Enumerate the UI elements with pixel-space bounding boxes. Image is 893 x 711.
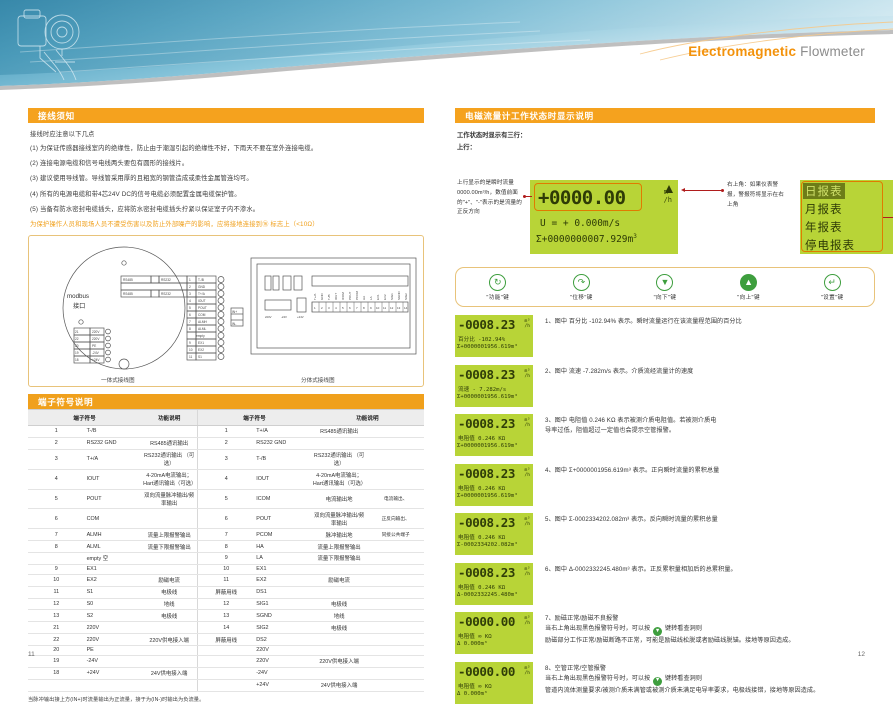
cell-sym-right: +24V xyxy=(254,679,311,691)
note-item-1: (1) 为保证传感器接线室内的绝缘性，防止由于潮湿引起的绝缘性不好，下雨天不要在… xyxy=(30,144,422,154)
item-line: 励磁部分工作正常/励磁断路不正常，可能是励磁线松脱或者励磁线脱锚。接地等原因造成… xyxy=(545,636,795,646)
lcd-thumbnail: -0008.23m³/h电阻值 0.246 KΩΣ+0000001956.619… xyxy=(455,414,533,456)
svg-text:14: 14 xyxy=(404,306,408,310)
item-description: 7、励磁正常/励磁不良报警当右上角出现黑色报警符号时，可以按 ▼ 键转看查洞则励… xyxy=(545,612,795,646)
svg-text:T-/B: T-/B xyxy=(198,278,204,282)
thumb-line2: 电阻值 0.246 KΩ xyxy=(458,583,505,591)
item-line: 当右上角出现黑色报警符号时，可以按 ▼ 键转看查洞则 xyxy=(545,624,795,636)
thumb-flow-value: -0008.23 xyxy=(458,466,515,481)
thumb-line2: 电阻值 0.246 KΩ xyxy=(458,434,505,442)
table-row: 10EX2励磁电流11EX2励磁电流 xyxy=(28,574,424,586)
svg-text:T+/A: T+/A xyxy=(313,294,317,300)
cell-fn-right: 脉冲输出地 xyxy=(311,529,368,541)
note-item-5: (5) 当备有防水密封电缆插头，应将防水密封电缆插头拧紧以保证室子内不渗水。 xyxy=(30,205,422,215)
cell-no-left: 20 xyxy=(28,646,85,656)
cell-sym-right: 220V xyxy=(254,655,311,667)
svg-text:4: 4 xyxy=(335,306,337,310)
table-row: 21220V14SIG2电极线 xyxy=(28,622,424,634)
thumb-line2: 电阻值 ∞ KΩ xyxy=(458,632,492,640)
svg-text:8: 8 xyxy=(363,306,365,310)
list-item: -0008.23m³/h电阻值 0.246 KΩΔ-0002332245.480… xyxy=(455,563,875,605)
cell-extra: 同接公共端子 xyxy=(367,529,424,541)
cell-no-left: 11 xyxy=(28,586,85,598)
svg-text:1: 1 xyxy=(189,278,191,282)
cell-fn-right xyxy=(311,586,368,598)
cell-no-left: 7 xyxy=(28,529,85,541)
thumb-line2: 电阻值 0.246 KΩ xyxy=(458,533,505,541)
table-header-row: 端子符号 功能说明 端子符号 功能说明 xyxy=(28,410,424,426)
thumb-flow-value: -0008.23 xyxy=(458,416,515,431)
thumb-flow-value: -0008.23 xyxy=(458,515,515,530)
table-row: +24V24V供电接入端 xyxy=(28,679,424,691)
cell-fn-right: 电极线 xyxy=(311,598,368,610)
cell-fn-right: 电流输出地 xyxy=(311,489,368,509)
menu-highlight-box xyxy=(801,181,883,252)
lcd-thumbnail: -0000.00m³/h电阻值 ∞ KΩΔ 0.000m³ xyxy=(455,612,533,654)
thumb-line3: Σ+0000001956.619m³ xyxy=(457,344,518,350)
cell-extra xyxy=(367,541,424,553)
svg-text:6: 6 xyxy=(189,313,191,317)
section-title-display: 电磁流量计工作状态时显示说明 xyxy=(465,110,594,122)
alarm-symbol-icon xyxy=(663,184,675,196)
cell-sym-left: ALML xyxy=(85,541,142,553)
svg-text:+24V: +24V xyxy=(297,315,304,319)
cell-sym-left: IOUT xyxy=(85,469,142,489)
lcd-thumbnail: -0008.23m³/h百分比 -102.94%Σ+0000001956.619… xyxy=(455,315,533,357)
wiring-notes: 接线时应注意以下几点 (1) 为保证传感器接线室内的绝缘性，防止由于潮湿引起的绝… xyxy=(28,123,424,230)
thumb-line3: Δ-0002332245.480m³ xyxy=(457,592,518,598)
table-row: 11S1电极线屏蔽用线DS1 xyxy=(28,586,424,598)
cell-sym-right: RS232 GND xyxy=(254,437,311,449)
svg-text:20: 20 xyxy=(75,344,79,348)
cell-fn-left: 24V供电接入端 xyxy=(141,667,198,679)
table-row: 9EX110EX1 xyxy=(28,564,424,574)
cell-fn-right: RS485通讯输出 xyxy=(311,426,368,438)
down-key-icon: ▼ xyxy=(656,274,673,291)
callout-line-left xyxy=(523,196,532,197)
item-line: 管道内流体测量要求/被测介质未满管或被测介质未满足电导率要求，电极线接错，接地等… xyxy=(545,686,819,696)
cell-fn-left: 电极线 xyxy=(141,610,198,622)
cell-no-right: 4 xyxy=(198,469,255,489)
display-sub: 上行： xyxy=(457,142,875,151)
cell-extra xyxy=(367,449,424,469)
svg-text:2: 2 xyxy=(189,285,191,289)
key-down[interactable]: ▼ "向下"键 xyxy=(628,274,702,301)
cell-fn-left: 流量下限报警输出 xyxy=(141,541,198,553)
item-line: 6、图中 Δ-0002332245.480m³ 表示。正反累积量相加后的总累积量… xyxy=(545,565,737,575)
callout-line-menu xyxy=(883,217,893,218)
cell-sym-right: 220V xyxy=(254,646,311,656)
key-legend-strip: ↻ "功能"键 ↷ "位移"键 ▼ "向下"键 ▲ "向上"键 ↵ "设置"键 xyxy=(455,267,875,307)
svg-text:220V: 220V xyxy=(265,315,272,319)
svg-text:IN-: IN- xyxy=(232,322,236,326)
thumb-line2: 流速 - 7.282m/s xyxy=(458,385,506,393)
cell-sym-left: ALMH xyxy=(85,529,142,541)
display-lead: 工作状态时显示有三行： xyxy=(457,130,875,139)
key-function[interactable]: ↻ "功能"键 xyxy=(461,274,535,301)
svg-text:19: 19 xyxy=(75,351,79,355)
cell-no-right xyxy=(198,655,255,667)
caption-split-wiring: 分体式接线图 xyxy=(301,376,335,384)
svg-text:13: 13 xyxy=(397,306,401,310)
cell-extra xyxy=(367,622,424,634)
thumb-unit: m³/h xyxy=(524,567,530,577)
svg-text:3: 3 xyxy=(328,306,330,310)
svg-text:SIG2: SIG2 xyxy=(404,293,408,300)
cell-sym-right: POUT xyxy=(254,509,311,529)
svg-text:empty: empty xyxy=(196,334,205,338)
cell-extra xyxy=(367,437,424,449)
svg-text:EX2: EX2 xyxy=(383,294,387,300)
cell-fn-left: RS232通讯输出 （可选） xyxy=(141,449,198,469)
lcd-thumbnail: -0008.23m³/h流速 - 7.282m/sΣ+0000001956.61… xyxy=(455,365,533,407)
cell-sym-left: S0 xyxy=(85,598,142,610)
svg-text:ICOM: ICOM xyxy=(341,292,345,300)
svg-text:PCOM: PCOM xyxy=(355,291,359,301)
lcd-totalizer-sup: 3 xyxy=(633,233,637,240)
down-key-icon[interactable]: ▼ xyxy=(653,677,662,686)
svg-text:RS232: RS232 xyxy=(161,292,171,296)
section-header-display: 电磁流量计工作状态时显示说明 xyxy=(455,108,875,123)
cell-no-right: 11 xyxy=(198,574,255,586)
cell-sym-right: ICOM xyxy=(254,489,311,509)
cell-fn-right xyxy=(311,634,368,646)
thumb-flow-value: -0008.23 xyxy=(458,317,515,332)
svg-text:SGND: SGND xyxy=(397,291,401,301)
key-function-label: "功能"键 xyxy=(461,293,535,301)
svg-text:IN+: IN+ xyxy=(232,310,237,314)
cell-no-left: 13 xyxy=(28,610,85,622)
cell-sym-right: SGND xyxy=(254,610,311,622)
lcd-velocity-line: U = + 0.000m/s xyxy=(540,218,620,229)
note-alarm-corner: 右上角：如果仪表警报，警报符将显示在右上角 xyxy=(727,181,789,210)
shift-key-icon: ↷ xyxy=(573,274,590,291)
svg-text:SIG1: SIG1 xyxy=(390,293,394,300)
diagram-modbus-label: modbus xyxy=(67,293,89,300)
thumb-line3: Σ+0000001956.619m³ xyxy=(457,443,518,449)
cell-no-right: 9 xyxy=(198,553,255,565)
cell-fn-left: 220V供电接入端 xyxy=(141,634,198,646)
lcd-value-highlight-box xyxy=(534,183,642,211)
svg-text:1: 1 xyxy=(314,306,316,310)
svg-text:3: 3 xyxy=(189,292,191,296)
list-item: -0008.23m³/h电阻值 0.246 KΩΣ+0000001956.619… xyxy=(455,414,875,456)
cell-sym-left: 220V xyxy=(85,622,142,634)
terminal-table-body: 1T-/B1T+/ARS485通讯输出2RS232 GNDRS485通讯输出2R… xyxy=(28,426,424,692)
list-item: -0008.23m³/h流速 - 7.282m/sΣ+0000001956.61… xyxy=(455,365,875,407)
cell-sym-right: T-/B xyxy=(254,449,311,469)
cell-fn-left: 励磁电流 xyxy=(141,574,198,586)
cell-no-right: 12 xyxy=(198,598,255,610)
svg-text:T-/B: T-/B xyxy=(327,295,331,301)
cell-no-right: 1 xyxy=(198,426,255,438)
caption-integral-wiring: 一体式接线图 xyxy=(101,376,135,384)
cell-fn-right xyxy=(311,437,368,449)
cell-no-left: 4 xyxy=(28,469,85,489)
svg-text:EX1: EX1 xyxy=(198,341,204,345)
cell-fn-right: RS232通讯输出 （可选） xyxy=(311,449,368,469)
note-item-3: (3) 建议使用导线管。导线管采用厚的且粗宽的钢管造成或柔性金属管连均可。 xyxy=(30,174,422,184)
svg-text:8: 8 xyxy=(189,327,191,331)
item-line: 2、图中 流速 -7.282m/s 表示。介质流经流量计的速度 xyxy=(545,367,693,377)
up-key-icon: ▲ xyxy=(740,274,757,291)
svg-text:-24V: -24V xyxy=(281,315,287,319)
cell-no-left: 10 xyxy=(28,574,85,586)
display-explanation-list: -0008.23m³/h百分比 -102.94%Σ+0000001956.619… xyxy=(455,315,875,704)
cell-no-left: 18 xyxy=(28,667,85,679)
callout-arrow-left xyxy=(681,188,685,192)
cell-fn-right xyxy=(311,646,368,656)
list-item: -0008.23m³/h电阻值 0.246 KΩΣ+0000001956.619… xyxy=(455,464,875,506)
svg-text:IOUT: IOUT xyxy=(334,293,338,300)
svg-text:7: 7 xyxy=(189,320,191,324)
cell-fn-right: 双向流量脉冲输出/频率输出 xyxy=(311,509,368,529)
table-row: 18+24V24V供电接入端-24V xyxy=(28,667,424,679)
cell-fn-left xyxy=(141,655,198,667)
cell-fn-right: 地线 xyxy=(311,610,368,622)
cell-no-left: 5 xyxy=(28,489,85,509)
cell-extra xyxy=(367,655,424,667)
thumb-unit: m³/h xyxy=(524,666,530,676)
svg-text:9: 9 xyxy=(370,306,372,310)
cell-no-left: 8 xyxy=(28,541,85,553)
th-terminal-symbol-left: 端子符号 xyxy=(28,410,141,426)
cell-fn-right xyxy=(311,564,368,574)
svg-text:S1: S1 xyxy=(198,355,202,359)
cell-no-left: 21 xyxy=(28,622,85,634)
svg-text:11: 11 xyxy=(383,306,386,310)
key-setting[interactable]: ↵ "设置"键 xyxy=(795,274,869,301)
item-line: 当右上角出现黑色报警符号时，可以按 ▼ 键转看查洞则 xyxy=(545,674,819,686)
cell-no-left: 12 xyxy=(28,598,85,610)
lcd-menu-display: 日报表 月报表 年报表 停电报表 xyxy=(800,180,893,254)
cell-sym-left: S2 xyxy=(85,610,142,622)
thumb-line2: 百分比 -102.94% xyxy=(458,335,505,343)
table-row: 3T+/ARS232通讯输出 （可选）3T-/BRS232通讯输出 （可选） xyxy=(28,449,424,469)
lcd-thumbnail: -0008.23m³/h电阻值 0.246 KΩΣ-0002334202.082… xyxy=(455,513,533,555)
cell-fn-right: 24V供电接入端 xyxy=(311,679,368,691)
th-function-left: 功能说明 xyxy=(141,410,198,426)
svg-text:LA: LA xyxy=(369,297,373,301)
svg-text:4: 4 xyxy=(189,299,191,303)
cell-extra xyxy=(367,646,424,656)
cell-sym-left: EX1 xyxy=(85,564,142,574)
th-terminal-symbol-right: 端子符号 xyxy=(198,410,311,426)
cell-extra xyxy=(367,634,424,646)
cell-extra xyxy=(367,610,424,622)
key-setting-label: "设置"键 xyxy=(795,293,869,301)
cell-no-left: 6 xyxy=(28,509,85,529)
table-row: 5POUT双向流量脉冲输出/频率输出5ICOM电流输出地电流输出、 xyxy=(28,489,424,509)
table-row: 12S0地线12SIG1电极线 xyxy=(28,598,424,610)
cell-fn-right: 4-20mA电流输出；Hart通讯输出（可选） xyxy=(311,469,368,489)
svg-text:接口: 接口 xyxy=(73,302,85,310)
cell-sym-left: T+/A xyxy=(85,449,142,469)
cell-fn-left xyxy=(141,426,198,438)
cell-extra xyxy=(367,553,424,565)
section-header-terminal: 端子符号说明 xyxy=(28,394,424,409)
section-header-wiring: 接线须知 xyxy=(28,108,424,123)
cell-no-right: 屏蔽用线 xyxy=(198,586,255,598)
cell-sym-right: SIG2 xyxy=(254,622,311,634)
cell-no-left: 19 xyxy=(28,655,85,667)
cell-no-right: 8 xyxy=(198,541,255,553)
cell-no-left: 1 xyxy=(28,426,85,438)
note-item-2: (2) 连接电源电缆和信号电线两头要包有圆形的接线片。 xyxy=(30,159,422,169)
cell-sym-left xyxy=(85,679,142,691)
item-description: 5、图中 Σ-0002334202.082m³ 表示。反向瞬时流量的累积总量 xyxy=(545,513,718,525)
item-line: 7、励磁正常/励磁不良报警 xyxy=(545,614,795,624)
integral-wiring-diagram xyxy=(63,247,243,369)
svg-text:220V: 220V xyxy=(92,337,100,341)
cell-extra xyxy=(367,574,424,586)
svg-text:T+/A: T+/A xyxy=(198,292,206,296)
table-row: 13S2电极线13SGND地线 xyxy=(28,610,424,622)
cell-sym-left: PE xyxy=(85,646,142,656)
cell-no-left: 3 xyxy=(28,449,85,469)
table-row: 8ALML流量下限报警输出8HA流量上限报警输出 xyxy=(28,541,424,553)
thumb-line2: 电阻值 ∞ KΩ xyxy=(458,682,492,690)
section-title-terminal: 端子符号说明 xyxy=(38,396,93,408)
svg-text:EX1: EX1 xyxy=(376,294,380,300)
svg-text:RS485: RS485 xyxy=(123,292,133,296)
thumb-line3: Δ 0.000m³ xyxy=(457,641,487,647)
thumb-line3: Σ+0000001956.619m³ xyxy=(457,493,518,499)
item-line: 1、图中 百分比 -102.94% 表示。瞬时流量运行在该流量程范围的百分比 xyxy=(545,317,742,327)
cell-no-right: 3 xyxy=(198,449,255,469)
svg-text:5: 5 xyxy=(189,306,191,310)
item-line: 5、图中 Σ-0002334202.082m³ 表示。反向瞬时流量的累积总量 xyxy=(545,515,718,525)
thumb-unit: m³/h xyxy=(524,616,530,626)
cell-sym-left: 220V xyxy=(85,634,142,646)
th-function-right: 功能说明 xyxy=(311,410,424,426)
table-row: 1T-/B1T+/ARS485通讯输出 xyxy=(28,426,424,438)
section-title-wiring: 接线须知 xyxy=(38,110,75,122)
note-upper-row-description: 上行显示的是瞬时流量0000.00m³/h，数值前面的"+"、"-"表示的是流量… xyxy=(457,179,525,218)
svg-text:2: 2 xyxy=(321,306,323,310)
cell-no-right: 5 xyxy=(198,489,255,509)
cell-no-left xyxy=(28,553,85,565)
svg-text:22: 22 xyxy=(75,337,79,341)
key-shift[interactable]: ↷ "位移"键 xyxy=(544,274,618,301)
notes-lead: 接线时应注意以下几点 xyxy=(30,130,422,140)
item-description: 3、图中 电阻值 0.246 KΩ 表示被测介质电阻值。若被测介质电 导率过低，… xyxy=(545,414,717,437)
svg-text:GND: GND xyxy=(198,285,206,289)
thumb-line3: Δ 0.000m³ xyxy=(457,691,487,697)
table-row: 19-24V220V220V供电接入端 xyxy=(28,655,424,667)
cell-fn-left: 流量上限报警输出 xyxy=(141,529,198,541)
cell-fn-left: 地线 xyxy=(141,598,198,610)
cell-sym-left: T-/B xyxy=(85,426,142,438)
table-footnote: 当脉冲输出接上方(IN+)时流量输出为正流量，接于为(IN-)时输出为负流量。 xyxy=(28,696,424,703)
svg-text:HA: HA xyxy=(362,296,366,300)
svg-text:-24V: -24V xyxy=(92,351,100,355)
setting-key-icon: ↵ xyxy=(824,274,841,291)
cell-sym-left: empty 空 xyxy=(85,553,142,565)
cell-no-left: 9 xyxy=(28,564,85,574)
cell-sym-right: HA xyxy=(254,541,311,553)
svg-text:PE: PE xyxy=(92,344,96,348)
lcd-unit-bottom: /h xyxy=(664,196,672,204)
cell-fn-right: 电极线 xyxy=(311,622,368,634)
page-number-right: 12 xyxy=(858,651,865,658)
svg-text:POUT: POUT xyxy=(348,292,352,301)
thumb-unit: m³/h xyxy=(524,369,530,379)
svg-text:12: 12 xyxy=(390,306,394,310)
cell-fn-left: 电极线 xyxy=(141,586,198,598)
cell-fn-left: 双向流量脉冲输出/频率输出 xyxy=(141,489,198,509)
cell-fn-right: 励磁电流 xyxy=(311,574,368,586)
cell-sym-left: COM xyxy=(85,509,142,529)
item-line: 导率过低，阻值超过一定值也会提示空管报警。 xyxy=(545,426,717,436)
cell-extra xyxy=(367,598,424,610)
thumb-flow-value: -0008.23 xyxy=(458,565,515,580)
cell-sym-left: RS232 GND xyxy=(85,437,142,449)
key-down-label: "向下"键 xyxy=(628,293,702,301)
svg-text:EX2: EX2 xyxy=(198,348,204,352)
svg-text:ALML: ALML xyxy=(198,327,207,331)
svg-text:18: 18 xyxy=(75,358,79,362)
cell-fn-left: RS485通讯输出 xyxy=(141,437,198,449)
page-number-left: 11 xyxy=(28,651,35,658)
cell-no-right: 6 xyxy=(198,509,255,529)
cell-fn-right xyxy=(311,667,368,679)
svg-text:COM: COM xyxy=(198,313,206,317)
lcd-totalizer-value: Σ+0000000007.929m xyxy=(536,234,633,245)
wiring-diagram-panel: modbus 接口 RS485RS232 RS485RS232 1T-/B 2G… xyxy=(28,235,424,387)
cell-fn-left xyxy=(141,679,198,691)
item-description: 2、图中 流速 -7.282m/s 表示。介质流经流量计的速度 xyxy=(545,365,693,377)
key-up[interactable]: ▲ "向上"键 xyxy=(712,274,786,301)
thumb-unit: m³/h xyxy=(524,418,530,428)
svg-text:IOUT: IOUT xyxy=(198,299,206,303)
svg-text:6: 6 xyxy=(349,306,351,310)
svg-text:21: 21 xyxy=(75,330,79,334)
cell-fn-left xyxy=(141,622,198,634)
cell-extra xyxy=(367,426,424,438)
cell-no-right xyxy=(198,646,255,656)
key-shift-label: "位移"键 xyxy=(544,293,618,301)
cell-fn-left xyxy=(141,509,198,529)
key-up-label: "向上"键 xyxy=(712,293,786,301)
note-item-4: (4) 所有的电源电缆和带4芯24V DC的信号电缆必须配置金属电缆保护管。 xyxy=(30,190,422,200)
svg-text:9: 9 xyxy=(189,341,191,345)
cell-no-right xyxy=(198,679,255,691)
cell-no-right: 14 xyxy=(198,622,255,634)
thumb-line3: Σ+0000001956.619m³ xyxy=(457,394,518,400)
item-description: 4、图中 Σ+0000001956.619m³ 表示。正向瞬时流量的累积总量 xyxy=(545,464,719,476)
lcd-illustration-row: 上行显示的是瞬时流量0000.00m³/h，数值前面的"+"、"-"表示的是流量… xyxy=(455,153,875,261)
cell-fn-right: 流量上限报警输出 xyxy=(311,541,368,553)
cell-sym-right: LA xyxy=(254,553,311,565)
thumb-unit: m³/h xyxy=(524,468,530,478)
brand-rest: Flowmeter xyxy=(796,44,865,59)
item-line: 8、空管正常/空管报警 xyxy=(545,664,819,674)
terminal-symbol-table: 端子符号 功能说明 端子符号 功能说明 1T-/B1T+/ARS485通讯输出2… xyxy=(28,409,424,691)
cell-sym-left: S1 xyxy=(85,586,142,598)
svg-text:7: 7 xyxy=(356,306,358,310)
cell-no-right xyxy=(198,667,255,679)
cell-sym-left: EX2 xyxy=(85,574,142,586)
thumb-flow-value: -0000.00 xyxy=(458,664,515,679)
down-key-icon[interactable]: ▼ xyxy=(653,627,662,636)
svg-text:10: 10 xyxy=(189,348,193,352)
cell-no-right: 7 xyxy=(198,529,255,541)
cell-extra xyxy=(367,679,424,691)
right-column: 电磁流量计工作状态时显示说明 工作状态时显示有三行： 上行： 上行显示的是瞬时流… xyxy=(455,108,875,711)
cell-no-right: 2 xyxy=(198,437,255,449)
cell-sym-right: IOUT xyxy=(254,469,311,489)
